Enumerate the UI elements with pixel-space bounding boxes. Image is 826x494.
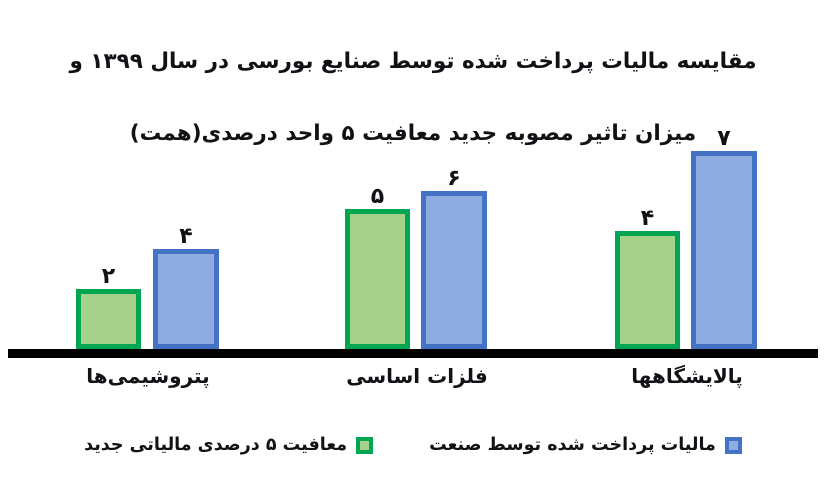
bar-refineries-tax-paid[interactable]: ۷ [691, 151, 757, 349]
bar-basic-metals-tax-paid[interactable]: ۶ [421, 191, 487, 349]
category-axis-labels: پتروشیمی‌ها فلزات اساسی پالایشگاهها [0, 362, 826, 396]
legend-swatch-blue-icon [725, 437, 742, 454]
category-label-petrochemicals: پتروشیمی‌ها [28, 362, 268, 390]
category-axis-line [8, 349, 818, 358]
legend-item-tax-paid[interactable]: مالیات پرداخت شده توسط صنعت [429, 435, 742, 455]
legend-label-tax-paid: مالیات پرداخت شده توسط صنعت [429, 435, 716, 455]
bar-value-label: ۵ [371, 186, 384, 208]
bar-refineries-exemption[interactable]: ۴ [615, 231, 680, 349]
bar-value-label: ۴ [641, 208, 654, 230]
legend-label-new-exemption: معافیت ۵ درصدی مالیاتی جدید [84, 435, 347, 455]
bar-value-label: ۷ [717, 128, 730, 150]
bar-value-label: ۴ [179, 226, 192, 248]
bar-value-label: ۶ [447, 168, 460, 190]
bar-petrochemicals-tax-paid[interactable]: ۴ [153, 249, 219, 349]
bar-petrochemicals-exemption[interactable]: ۲ [76, 289, 141, 349]
category-label-refineries: پالایشگاهها [567, 362, 807, 390]
bar-chart: مقایسه مالیات پرداخت شده توسط صنایع بورس… [0, 0, 826, 494]
chart-title-line-1: مقایسه مالیات پرداخت شده توسط صنایع بورس… [0, 44, 826, 80]
legend-swatch-green-icon [356, 437, 373, 454]
bar-basic-metals-exemption[interactable]: ۵ [345, 209, 410, 349]
chart-legend: مالیات پرداخت شده توسط صنعت معافیت ۵ درص… [0, 428, 826, 462]
category-label-basic-metals: فلزات اساسی [297, 362, 537, 390]
bar-value-label: ۲ [102, 266, 115, 288]
legend-item-new-exemption[interactable]: معافیت ۵ درصدی مالیاتی جدید [84, 435, 373, 455]
plot-area: ۲ ۴ ۵ ۶ ۴ ۷ [0, 110, 826, 358]
